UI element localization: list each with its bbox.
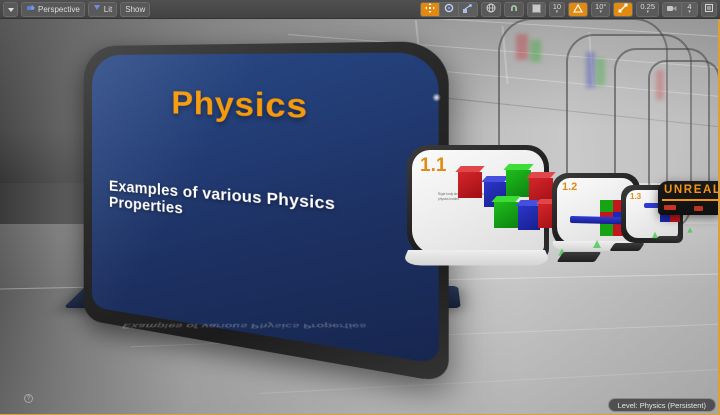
- unreal-sign-underline: [662, 199, 720, 201]
- grid-snap-toggle[interactable]: [528, 2, 545, 17]
- magnet-icon: [509, 3, 519, 15]
- unreal-sign-text: UNREAL: [664, 184, 720, 196]
- camera-speed-group: 4 ▾: [662, 2, 698, 17]
- physics-cube[interactable]: [600, 200, 613, 212]
- view-mode-label: Perspective: [38, 5, 80, 14]
- level-viewport[interactable]: Physics Examples of various Physics Prop…: [0, 0, 720, 415]
- panel-base: [401, 250, 552, 265]
- angle-icon: [573, 4, 583, 15]
- physics-cube[interactable]: [458, 172, 482, 198]
- slide-title: Physics: [92, 83, 413, 131]
- view-mode-button[interactable]: Perspective: [21, 2, 85, 17]
- chevron-down-icon: ▾: [556, 10, 559, 15]
- scale-snap-toggle[interactable]: [613, 2, 633, 17]
- coordinate-system-toggle[interactable]: [481, 2, 501, 17]
- surface-snap-toggle[interactable]: [504, 2, 524, 17]
- lightbulb-icon: [93, 4, 101, 14]
- rotate-icon: [444, 3, 454, 15]
- globe-icon: [486, 3, 496, 15]
- scale-snap-value[interactable]: 0.25 ▾: [636, 2, 659, 17]
- chevron-down-icon: ▾: [688, 10, 691, 15]
- chevron-down-icon: [8, 5, 14, 14]
- lighting-mode-label: Lit: [104, 5, 112, 14]
- scale-tool[interactable]: [459, 2, 477, 17]
- grid-snap-group: [527, 2, 546, 17]
- rotation-snap-value[interactable]: 10° ▾: [591, 2, 610, 17]
- editor-window: Physics Examples of various Physics Prop…: [0, 0, 720, 415]
- camera-speed-icon-button[interactable]: [663, 2, 682, 17]
- panel-plinth: [609, 243, 644, 251]
- maximize-icon: [705, 4, 713, 14]
- grid-snap-value[interactable]: 10 ▾: [549, 2, 565, 17]
- chevron-down-icon: ▾: [646, 10, 649, 15]
- rotate-tool[interactable]: [440, 2, 459, 17]
- lighting-mode-button[interactable]: Lit: [88, 2, 117, 17]
- status-badge-level: Level: Physics (Persistent): [608, 398, 716, 412]
- physics-cube[interactable]: [600, 224, 613, 236]
- grid-icon: [532, 4, 541, 15]
- slide-subtitle: Examples of various Physics Properties: [109, 178, 419, 241]
- physics-cube[interactable]: [506, 170, 531, 197]
- camera-icon: [26, 4, 35, 14]
- scale-icon: [463, 3, 473, 15]
- floor-marker: [593, 240, 601, 248]
- floor-marker: [687, 227, 692, 232]
- maximize-viewport-button[interactable]: [701, 2, 717, 17]
- select-translate-tool[interactable]: [421, 2, 440, 17]
- scale-snap-icon: [618, 3, 628, 15]
- viewport-toolbar: Perspective Lit Show: [0, 0, 720, 19]
- panel-number: 1.2: [562, 181, 577, 193]
- move-arrows-icon: [425, 3, 435, 15]
- panel-number: 1.3: [630, 192, 641, 201]
- camera-speed-icon: [667, 4, 677, 15]
- show-flags-button[interactable]: Show: [120, 2, 150, 17]
- transform-tools-group: [420, 2, 478, 17]
- viewport-options-dropdown[interactable]: [3, 2, 18, 17]
- rotation-snap-toggle[interactable]: [568, 2, 588, 17]
- physics-cube[interactable]: [518, 206, 540, 230]
- panel-plinth: [557, 252, 602, 262]
- signage-light: [664, 205, 676, 210]
- help-hint-icon: ?: [24, 394, 33, 403]
- slide-floor-reflection: Examples of various Physics Properties: [120, 297, 420, 330]
- chevron-down-icon: ▾: [599, 10, 602, 15]
- corridor-arch: [648, 60, 720, 200]
- show-flags-label: Show: [125, 5, 145, 14]
- panel-number: 1.1: [420, 155, 446, 177]
- signage-light: [694, 206, 703, 211]
- camera-speed-value[interactable]: 4 ▾: [682, 2, 697, 17]
